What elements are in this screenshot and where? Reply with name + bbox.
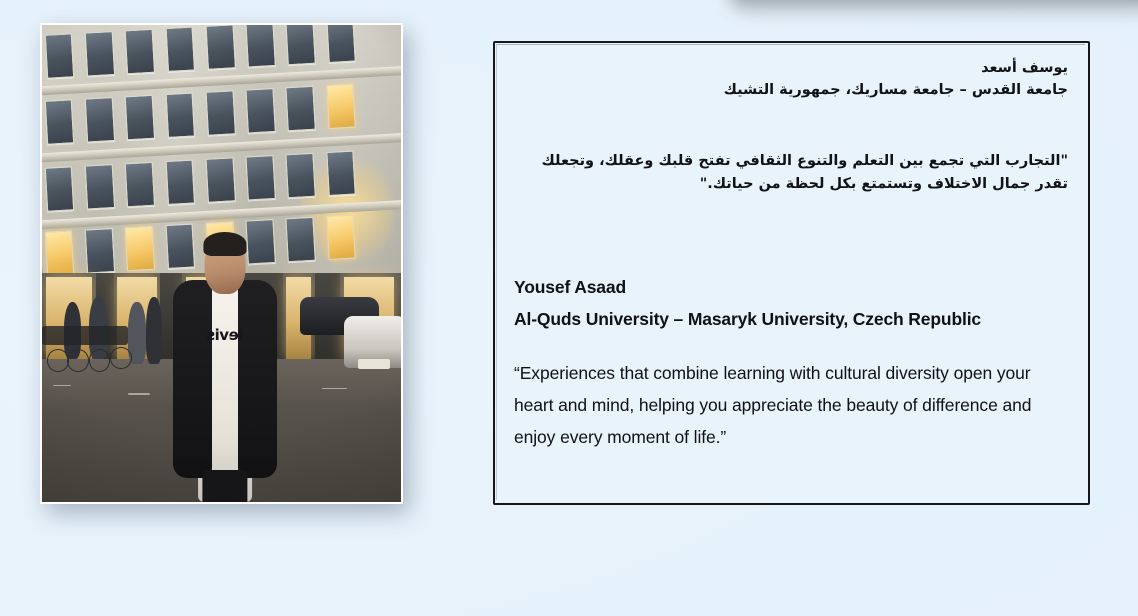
photo-subject-jacket-right — [238, 280, 277, 478]
student-photo-frame[interactable]: levis — [40, 23, 403, 504]
photo-window-lit — [326, 84, 356, 129]
student-photo: levis — [42, 25, 401, 502]
photo-window — [205, 157, 235, 202]
photo-road-marking — [53, 385, 71, 387]
photo-window — [85, 31, 115, 76]
photo-window — [165, 93, 195, 138]
photo-pedestrian — [146, 297, 162, 364]
photo-window — [85, 164, 115, 209]
photo-window — [286, 153, 316, 198]
photo-window — [85, 229, 115, 274]
photo-road-marking — [128, 393, 150, 395]
photo-subject-hair — [204, 232, 247, 256]
english-student-name: Yousef Asaad — [514, 271, 1071, 304]
photo-window — [286, 25, 316, 65]
photo-window — [125, 162, 155, 207]
arabic-student-affiliation: جامعة القدس – جامعة مساريك، جمهورية التش… — [505, 79, 1068, 101]
photo-hoodie-logo-text: levis — [207, 326, 244, 344]
top-edge-shadow-band — [730, 0, 1138, 14]
photo-window-lit — [326, 215, 356, 260]
photo-window — [326, 151, 356, 196]
photo-bicycle-wheel — [89, 349, 111, 372]
photo-window — [44, 33, 74, 78]
arabic-student-quote: "التجارب التي تجمع بين التعلم والتنوع ال… — [505, 150, 1068, 197]
photo-license-plate — [358, 359, 390, 369]
photo-window — [205, 91, 235, 136]
photo-subject-jacket-left — [173, 280, 212, 478]
photo-window — [246, 155, 276, 200]
photo-window — [165, 160, 195, 205]
photo-bicycle-wheel — [67, 349, 89, 372]
photo-road-marking — [322, 388, 347, 390]
photo-subject-person: levis — [171, 235, 279, 502]
photo-window — [125, 95, 155, 140]
photo-subject-trousers — [202, 470, 247, 502]
english-testimonial-block: Yousef Asaad Al-Quds University – Masary… — [505, 271, 1071, 454]
photo-window — [286, 86, 316, 131]
photo-window-lit — [125, 226, 155, 271]
photo-bicycle-rack — [42, 326, 128, 345]
photo-window-lit — [44, 231, 74, 276]
english-student-affiliation: Al-Quds University – Masaryk University,… — [514, 303, 1071, 336]
testimonial-card: يوسف أسعد جامعة القدس – جامعة مساريك، جم… — [493, 41, 1090, 505]
photo-window — [85, 97, 115, 142]
photo-window — [246, 88, 276, 133]
photo-window — [44, 166, 74, 211]
english-student-quote: “Experiences that combine learning with … — [514, 358, 1071, 454]
photo-window — [125, 28, 155, 73]
photo-window — [326, 25, 356, 62]
arabic-testimonial-block: يوسف أسعد جامعة القدس – جامعة مساريك، جم… — [505, 57, 1071, 197]
photo-bicycle-wheel — [47, 349, 69, 372]
photo-window — [286, 217, 316, 262]
photo-window — [205, 25, 235, 69]
photo-window — [246, 25, 276, 67]
testimonial-card-inner: يوسف أسعد جامعة القدس – جامعة مساريك، جم… — [495, 43, 1088, 503]
arabic-student-name: يوسف أسعد — [505, 57, 1068, 79]
photo-window — [165, 26, 195, 71]
photo-window — [44, 100, 74, 145]
